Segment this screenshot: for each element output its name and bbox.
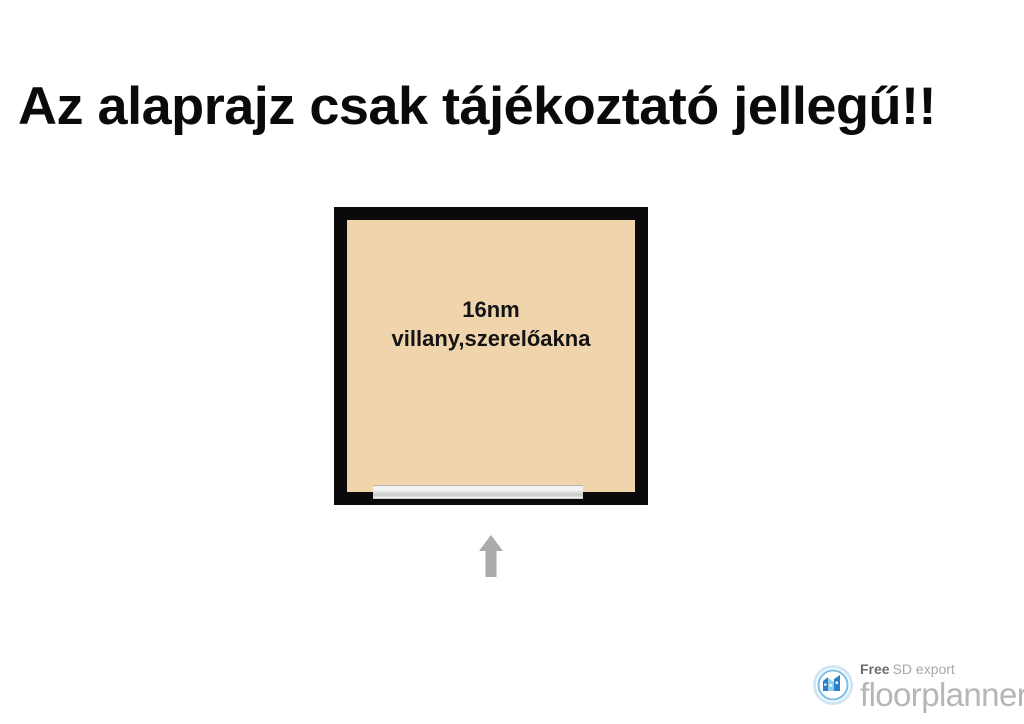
watermark-text-group: FreeSD export floorplanner [860, 660, 1024, 711]
room-floor-fill [347, 220, 635, 492]
door-opening [373, 485, 583, 499]
floorplan-canvas: Az alaprajz csak tájékoztató jellegű!! 1… [0, 0, 1024, 724]
floorplanner-watermark: FreeSD export floorplanner [812, 655, 1018, 715]
watermark-brand: floorplanner [860, 678, 1024, 711]
watermark-tagline-strong: Free [860, 661, 890, 677]
watermark-tagline: FreeSD export [860, 662, 1024, 677]
floorplanner-logo-icon [812, 664, 854, 706]
room-walls: 16nm villany,szerelőakna [334, 207, 648, 505]
floorplan-room: 16nm villany,szerelőakna [334, 207, 648, 505]
disclaimer-banner: Az alaprajz csak tájékoztató jellegű!! [18, 76, 1014, 138]
disclaimer-title: Az alaprajz csak tájékoztató jellegű!! [18, 78, 936, 136]
watermark-tagline-rest: SD export [893, 661, 955, 677]
entry-arrow-icon [477, 533, 505, 578]
